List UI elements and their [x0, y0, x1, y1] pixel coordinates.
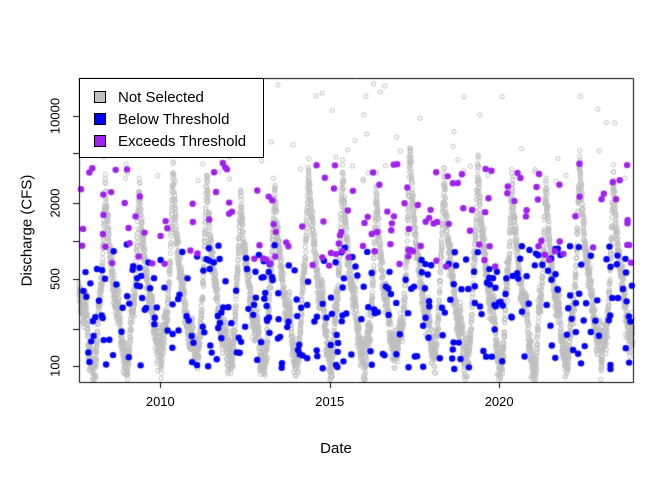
legend-swatch-below-threshold [94, 113, 106, 125]
chart-legend: Not Selected Below Threshold Exceeds Thr… [79, 78, 264, 158]
legend-swatch-not-selected [94, 91, 106, 103]
discharge-scatter-plot: Discharge (CFS) Date 201020152020 100500… [0, 0, 672, 480]
legend-item-not-selected: Not Selected [94, 86, 263, 108]
legend-label-exceeds-threshold: Exceeds Threshold [118, 134, 246, 149]
legend-item-exceeds-threshold: Exceeds Threshold [94, 130, 263, 152]
chart-plot-area [0, 0, 672, 480]
legend-label-not-selected: Not Selected [118, 90, 204, 105]
legend-swatch-exceeds-threshold [94, 135, 106, 147]
legend-item-below-threshold: Below Threshold [94, 108, 263, 130]
legend-label-below-threshold: Below Threshold [118, 112, 229, 127]
